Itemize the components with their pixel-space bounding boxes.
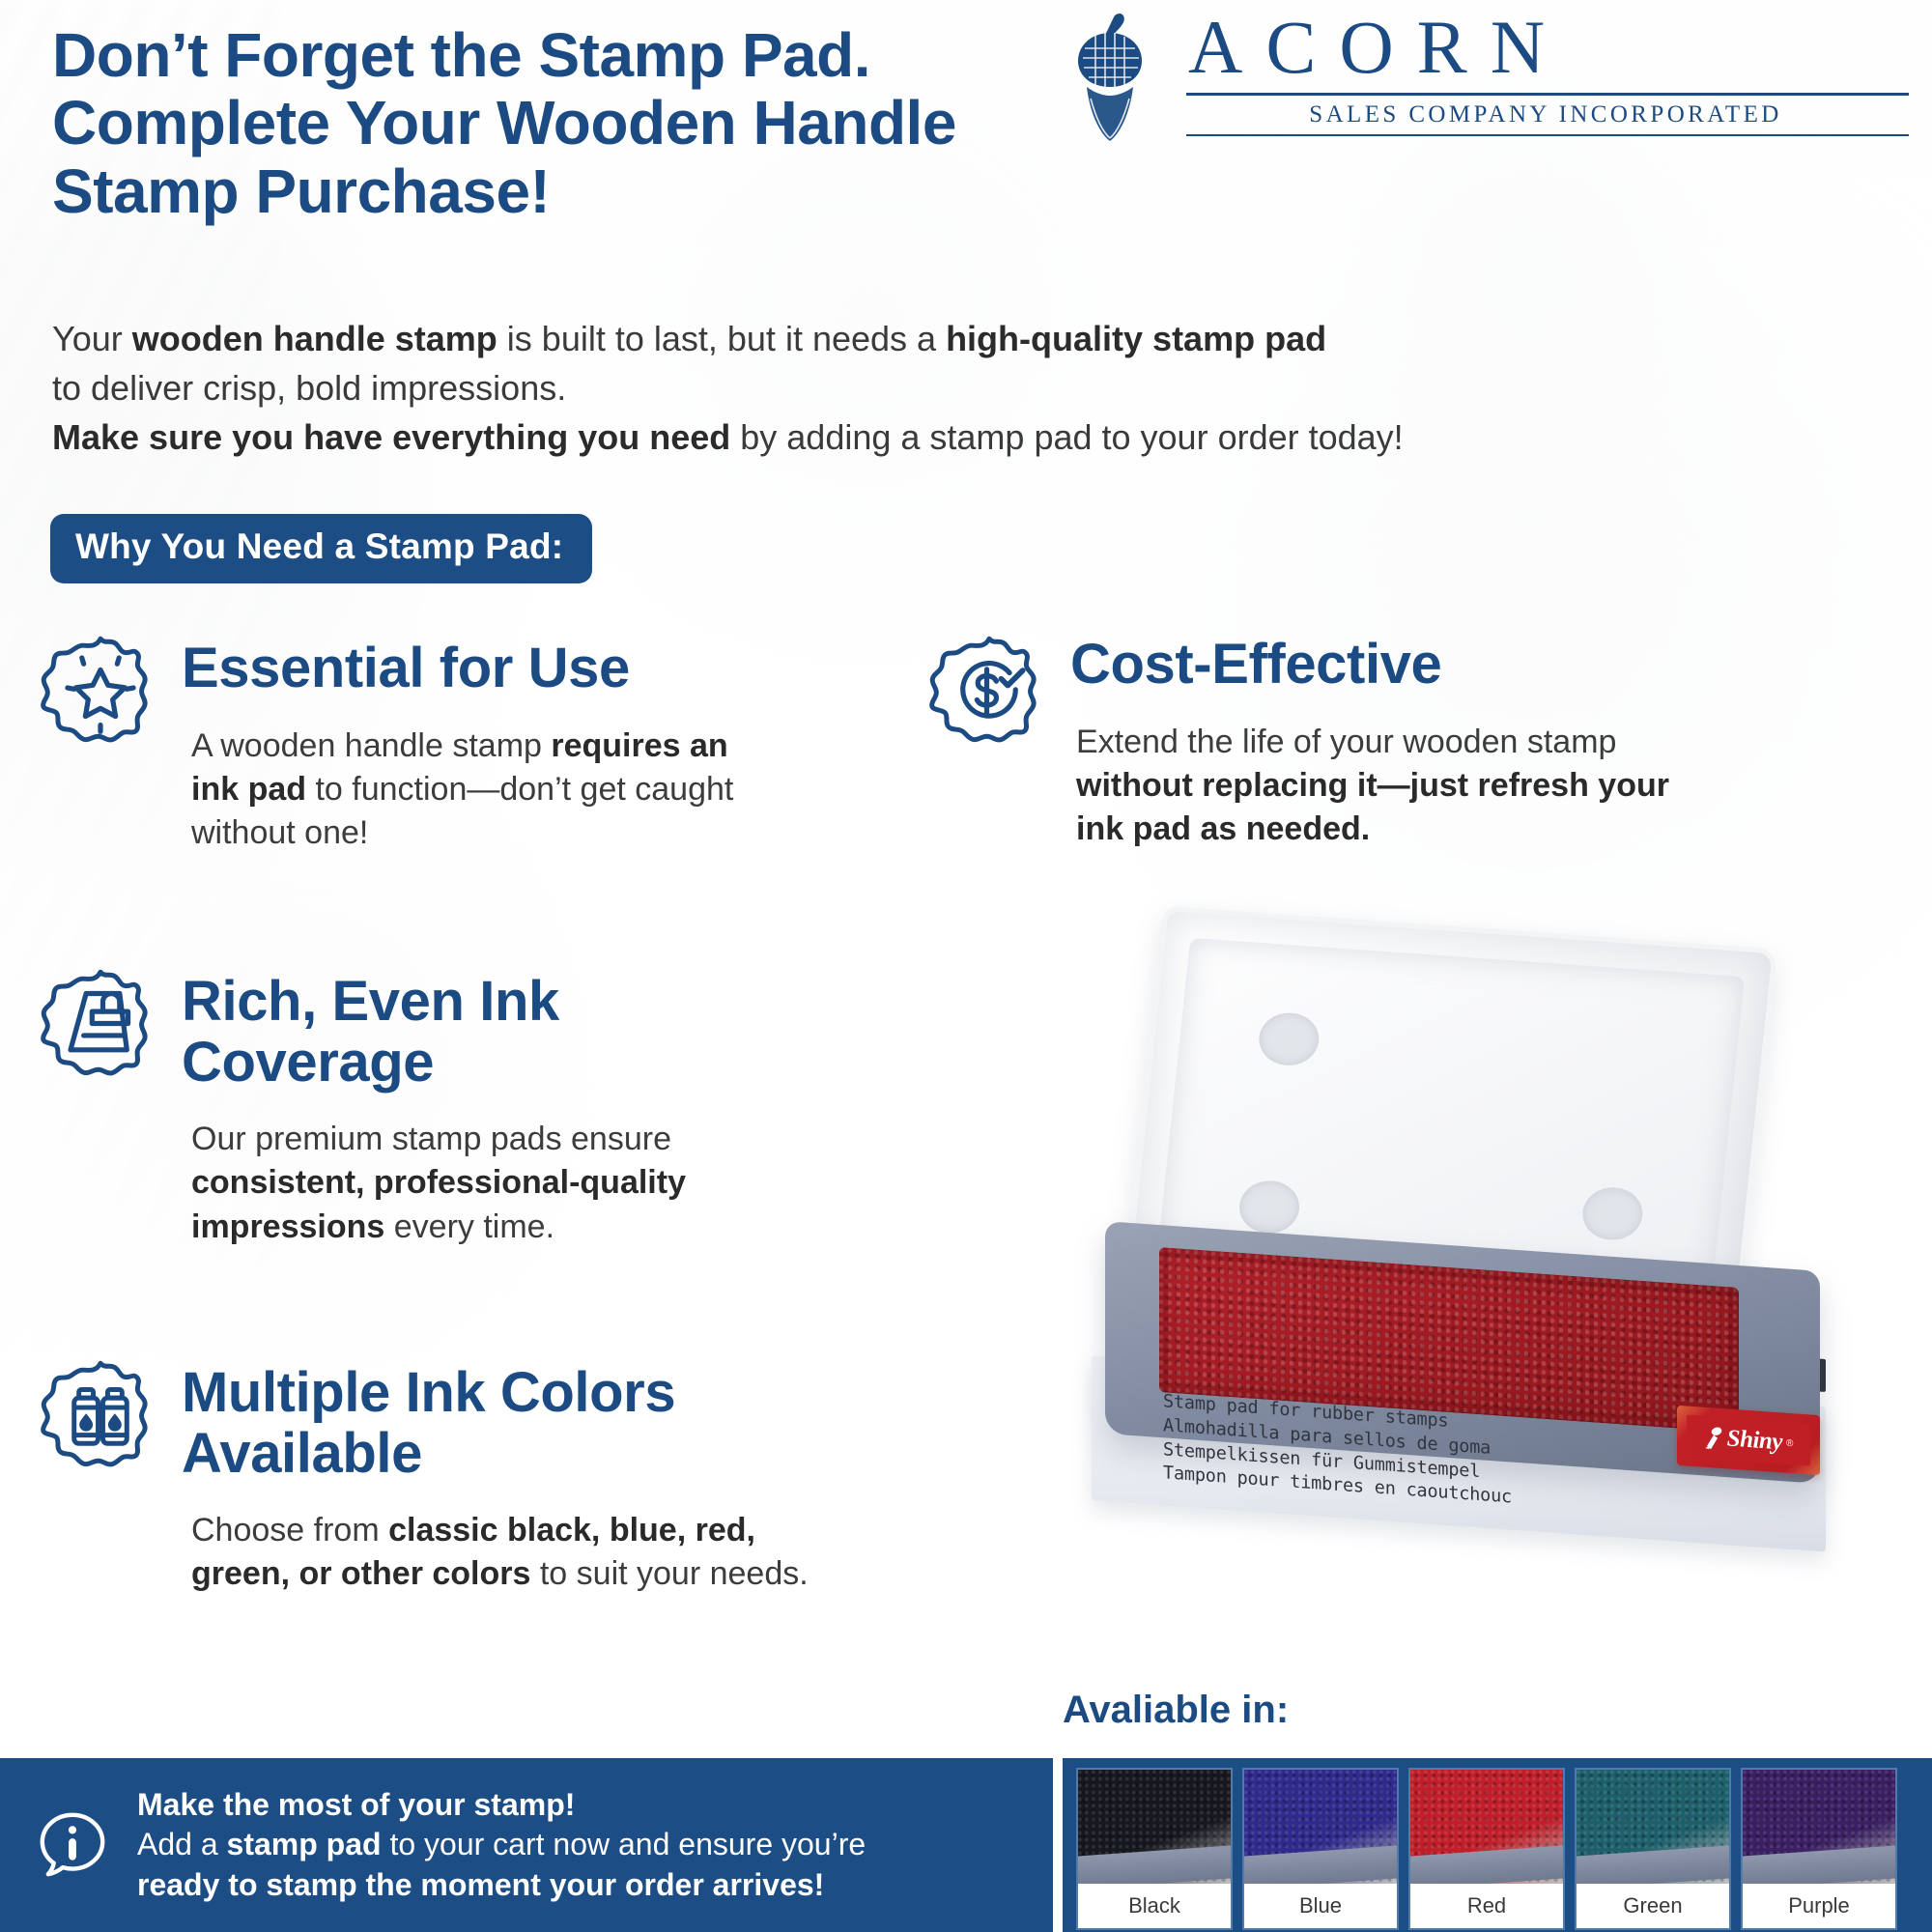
swatch-image: [1577, 1770, 1729, 1884]
feature-line: consistent, professional-quality: [191, 1161, 929, 1205]
swatch-label: Black: [1078, 1884, 1231, 1928]
feature-text: to function—don’t get caught: [306, 771, 733, 808]
info-speech-bubble-icon: [35, 1807, 110, 1883]
feature-strong: classic black, blue, red,: [388, 1512, 755, 1548]
swatch-image: [1410, 1770, 1563, 1884]
swatch-label: Purple: [1743, 1884, 1895, 1928]
cta-strong-ready: ready to stamp the moment your order arr…: [137, 1867, 824, 1902]
registered-mark: ®: [1786, 1437, 1793, 1449]
feature-line: Our premium stamp pads ensure: [191, 1118, 929, 1161]
feature-line: Choose from classic black, blue, red,: [191, 1509, 1026, 1552]
feature-text: to suit your needs.: [530, 1555, 808, 1592]
swatch-green[interactable]: Green: [1575, 1768, 1731, 1930]
swatch-black[interactable]: Black: [1076, 1768, 1233, 1930]
stamp-badge-icon: [41, 966, 160, 1086]
cta-strong-pad: stamp pad: [227, 1827, 382, 1861]
cta-text-part: Add a: [137, 1827, 227, 1861]
acorn-sales-logo: ACORN SALES COMPANY INCORPORATED: [1059, 10, 1909, 145]
feature-title-line-1: Multiple Ink Colors: [182, 1361, 675, 1424]
feature-title: Multiple Ink Colors Available: [182, 1363, 1026, 1484]
feature-title: Rich, Even Ink Coverage: [182, 972, 929, 1093]
swatch-purple[interactable]: Purple: [1741, 1768, 1897, 1930]
feature-description: A wooden handle stamp requires an ink pa…: [191, 724, 929, 856]
section-badge-why: Why You Need a Stamp Pad:: [50, 514, 592, 583]
feature-multiple-ink-colors: Multiple Ink Colors Available Choose fro…: [41, 1357, 1026, 1597]
feature-cost-effective: Cost-Effective Extend the life of your w…: [929, 633, 1895, 851]
shiny-wordmark: Shiny: [1727, 1425, 1782, 1456]
feature-description: Extend the life of your wooden stamp wit…: [1076, 721, 1895, 852]
cta-banner: Make the most of your stamp! Add a stamp…: [0, 1758, 1053, 1932]
intro-strong-pad: high-quality stamp pad: [946, 319, 1326, 358]
swatch-image: [1743, 1770, 1895, 1884]
headline-line-3: Stamp Purchase!: [52, 157, 1298, 225]
swatch-label: Blue: [1244, 1884, 1397, 1928]
swatch-label: Red: [1410, 1884, 1563, 1928]
cta-text-part: to your cart now and ensure you’re: [382, 1827, 867, 1861]
swatch-blue[interactable]: Blue: [1242, 1768, 1399, 1930]
feature-title-line-2: Available: [182, 1422, 422, 1485]
feature-title: Cost-Effective: [1070, 635, 1895, 696]
intro-text: is built to last, but it needs a: [497, 319, 946, 358]
feature-text: Choose from: [191, 1512, 388, 1548]
feature-line: without one!: [191, 811, 929, 855]
intro-text: Your: [52, 319, 132, 358]
feature-line: Extend the life of your wooden stamp: [1076, 721, 1895, 764]
feature-strong: consistent, professional-quality: [191, 1164, 686, 1201]
shiny-brand-logo: Shiny ®: [1677, 1406, 1820, 1475]
feature-line: ink pad to function—don’t get caught: [191, 768, 929, 811]
cta-line-1: Make the most of your stamp!: [137, 1785, 866, 1826]
ink-bottles-badge-icon: [41, 1357, 160, 1477]
feature-strong: ink pad: [191, 771, 306, 808]
feature-text: A wooden handle stamp: [191, 727, 551, 764]
logo-divider-top: [1186, 93, 1909, 96]
feature-strong: green, or other colors: [191, 1555, 530, 1592]
logo-wordmark: ACORN: [1182, 10, 1909, 85]
intro-paragraph: Your wooden handle stamp is built to las…: [52, 314, 1501, 462]
intro-line-3: Make sure you have everything you need b…: [52, 412, 1501, 462]
intro-strong-stamp: wooden handle stamp: [132, 319, 497, 358]
swatch-image: [1078, 1770, 1231, 1884]
feature-strong: without replacing it—just refresh your: [1076, 767, 1669, 804]
feature-rich-even-ink-coverage: Rich, Even Ink Coverage Our premium stam…: [41, 966, 929, 1249]
cta-line-3: ready to stamp the moment your order arr…: [137, 1865, 866, 1906]
acorn-icon: [1059, 10, 1165, 145]
product-photo-stamp-pad: C-S Stamp pad for rubber stamps Almohadi…: [1092, 927, 1893, 1526]
swatch-red[interactable]: Red: [1408, 1768, 1565, 1930]
cta-text: Make the most of your stamp! Add a stamp…: [137, 1785, 866, 1906]
intro-text: by adding a stamp pad to your order toda…: [730, 417, 1403, 457]
swatch-image: [1244, 1770, 1397, 1884]
feature-line: A wooden handle stamp requires an: [191, 724, 929, 768]
feature-line: impressions every time.: [191, 1206, 929, 1249]
cta-headline: Make the most of your stamp!: [137, 1787, 575, 1822]
color-swatch-panel: Black Blue Red Green Purple: [1063, 1758, 1932, 1932]
feature-description: Our premium stamp pads ensure consistent…: [191, 1118, 929, 1249]
feature-title: Essential for Use: [182, 639, 929, 699]
shiny-stamp-glyph: [1704, 1425, 1723, 1451]
feature-strong: requires an: [551, 727, 727, 764]
available-in-title: Avaliable in:: [1063, 1689, 1289, 1732]
intro-line-2: to deliver crisp, bold impressions.: [52, 363, 1501, 412]
feature-title-line-2: Coverage: [182, 1031, 434, 1094]
dollar-check-badge-icon: [929, 633, 1049, 753]
feature-line: green, or other colors to suit your need…: [191, 1552, 1026, 1596]
feature-strong: ink pad as needed.: [1076, 810, 1370, 847]
cta-line-2: Add a stamp pad to your cart now and ens…: [137, 1825, 866, 1865]
swatch-label: Green: [1577, 1884, 1729, 1928]
feature-line: without replacing it—just refresh your: [1076, 764, 1895, 808]
feature-strong: impressions: [191, 1208, 384, 1245]
feature-text: every time.: [384, 1208, 554, 1245]
intro-strong-makesure: Make sure you have everything you need: [52, 417, 730, 457]
star-badge-icon: [41, 633, 160, 753]
feature-essential-for-use: Essential for Use A wooden handle stamp …: [41, 633, 929, 855]
logo-subtitle: SALES COMPANY INCORPORATED: [1182, 101, 1909, 128]
feature-title-line-1: Rich, Even Ink: [182, 970, 559, 1033]
intro-line-1: Your wooden handle stamp is built to las…: [52, 314, 1501, 363]
feature-line: ink pad as needed.: [1076, 808, 1895, 851]
infographic-page: Don’t Forget the Stamp Pad. Complete You…: [0, 0, 1932, 1932]
feature-description: Choose from classic black, blue, red, gr…: [191, 1509, 1026, 1596]
logo-divider-bottom: [1186, 134, 1909, 136]
